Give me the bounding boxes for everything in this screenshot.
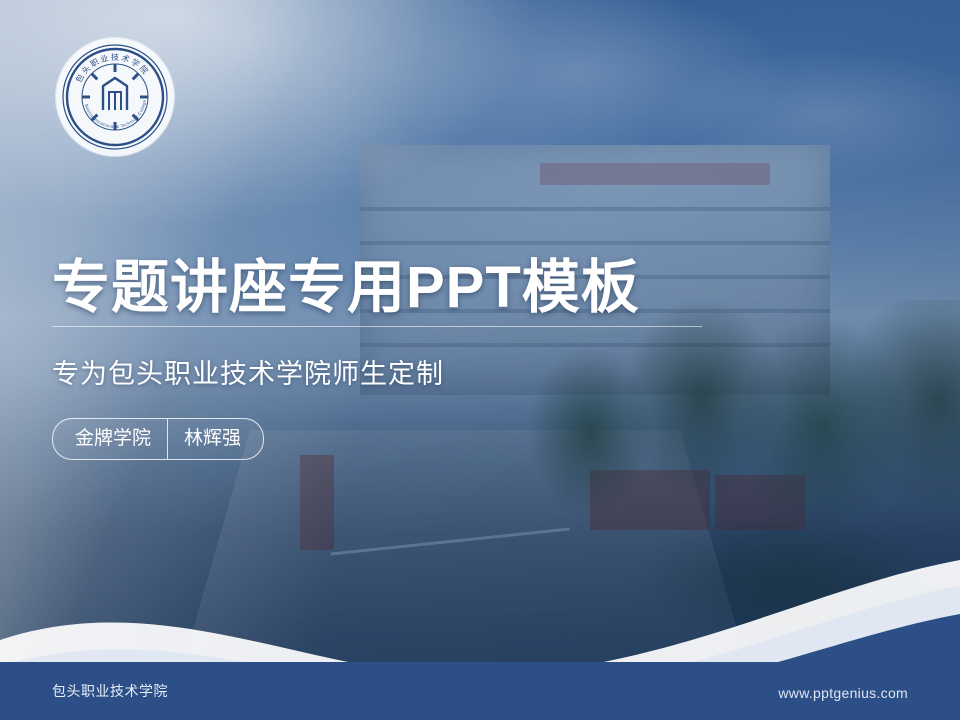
slide-title: 专题讲座专用PPT模板 — [52, 240, 792, 324]
presentation-slide: 包头职业技术学院 Baotou Vocational & Technical C… — [0, 0, 960, 720]
footer-website[interactable]: www.pptgenius.com — [778, 685, 908, 701]
college-logo: 包头职业技术学院 Baotou Vocational & Technical C… — [56, 38, 174, 156]
title-divider — [52, 326, 702, 327]
slide-subtitle: 专为包头职业技术学院师生定制 — [52, 352, 444, 391]
college-emblem-icon: 包头职业技术学院 Baotou Vocational & Technical C… — [60, 42, 170, 152]
presenter-badge: 金牌学院 林辉强 — [52, 418, 264, 460]
badge-presenter-name: 林辉强 — [168, 420, 241, 458]
footer-institution: 包头职业技术学院 — [52, 681, 168, 701]
badge-left-label: 金牌学院 — [75, 420, 167, 458]
